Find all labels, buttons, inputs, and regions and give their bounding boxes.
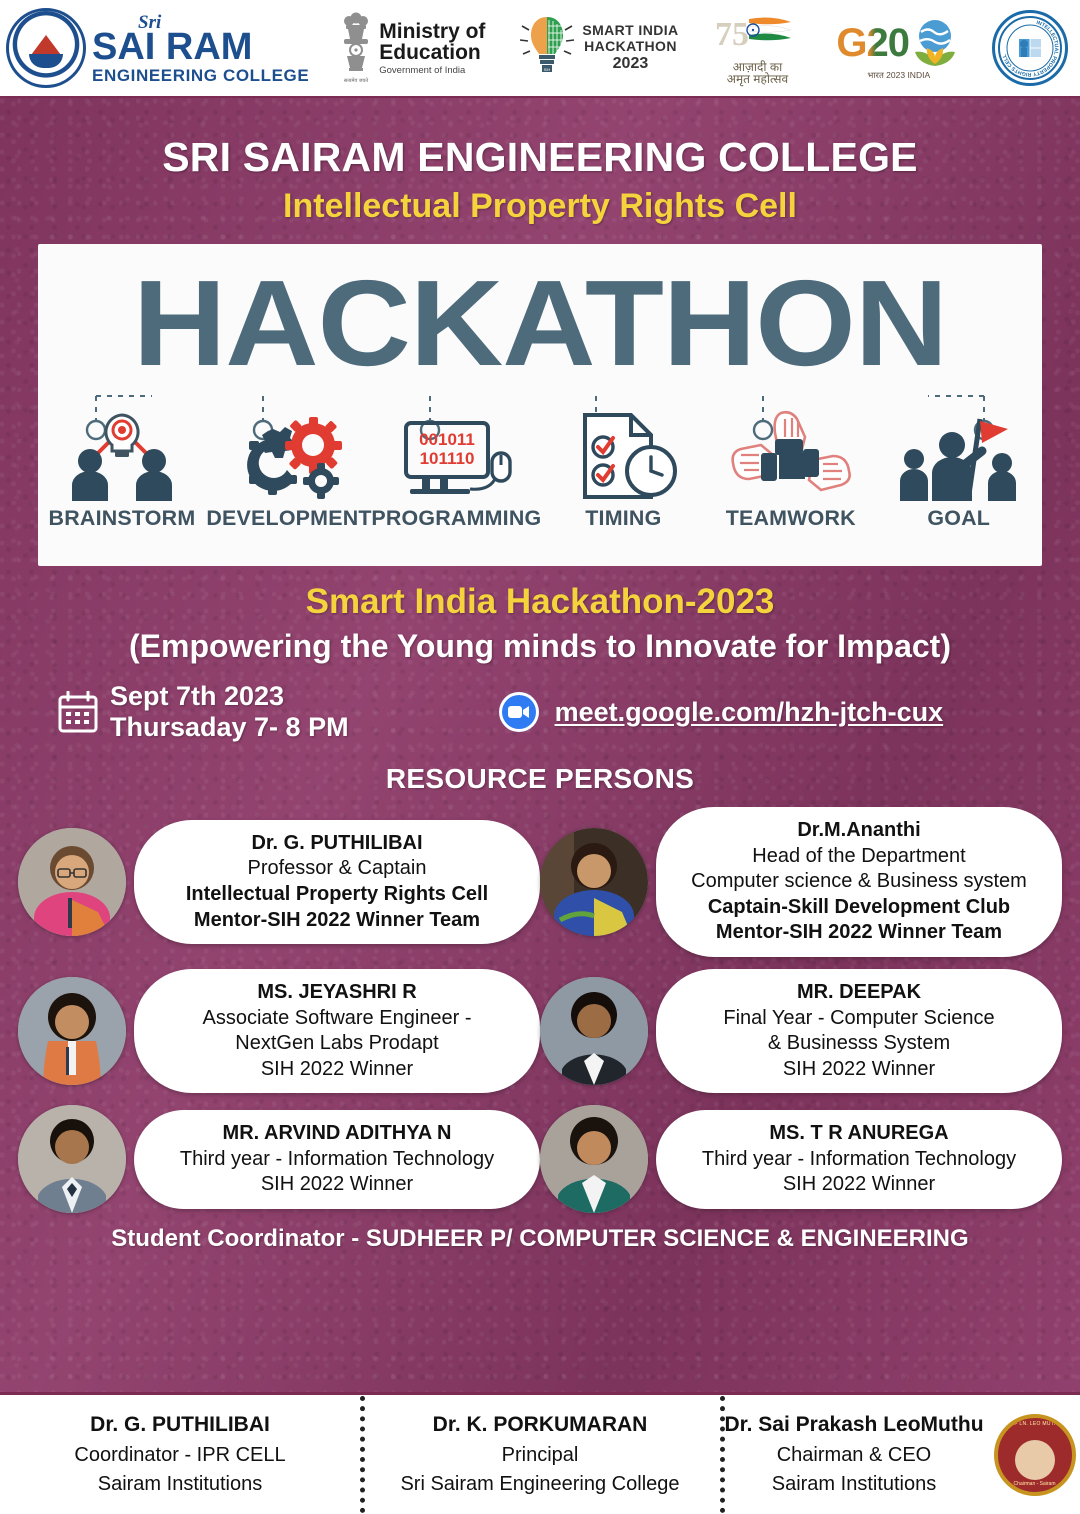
- footer-org: Sairam Institutions: [0, 1470, 360, 1499]
- resource-row-2: MS. JEYASHRI R Associate Software Engine…: [18, 969, 1062, 1093]
- resource-persons-grid: Dr. G. PUTHILIBAI Professor & Captain In…: [0, 807, 1080, 1213]
- footer-role: Coordinator - IPR CELL: [0, 1441, 360, 1470]
- event-date-group: Sept 7th 2023 Thursaday 7- 8 PM: [58, 681, 349, 743]
- svg-text:75: 75: [715, 16, 749, 53]
- person-detail: NextGen Labs Prodapt: [148, 1031, 526, 1057]
- footer-name: Dr. G. PUTHILIBAI: [0, 1410, 360, 1440]
- event-date: Sept 7th 2023: [110, 681, 349, 712]
- person-name: Dr.M.Ananthi: [670, 818, 1048, 844]
- resource-row-1: Dr. G. PUTHILIBAI Professor & Captain In…: [18, 807, 1062, 957]
- google-meet-link[interactable]: meet.google.com/hzh-jtch-cux: [555, 697, 944, 728]
- chairman-seal-icon: MJF LN. LEO MUTHU Chairman - Sairam: [994, 1414, 1076, 1496]
- footer-signatories: Dr. G. PUTHILIBAI Coordinator - IPR CELL…: [0, 1392, 1080, 1514]
- stage-label-goal: GOAL: [927, 507, 990, 531]
- resource-card-text: MR. ARVIND ADITHYA N Third year - Inform…: [134, 1110, 540, 1209]
- person-detail: Professor & Captain: [148, 856, 526, 882]
- brain-bulb-icon: SIH: [516, 8, 578, 88]
- azadi-hindi-line2: अमृत महोत्सव: [709, 73, 805, 85]
- event-meta-row: Sept 7th 2023 Thursaday 7- 8 PM meet.goo…: [0, 681, 1080, 743]
- resource-card-text: MS. JEYASHRI R Associate Software Engine…: [134, 969, 540, 1093]
- stage-timing: TIMING: [540, 409, 707, 531]
- g20-lotus-globe-icon: [909, 16, 961, 72]
- resource-person-card: Dr.M.Ananthi Head of the Department Comp…: [540, 807, 1062, 957]
- calendar-icon: [58, 691, 98, 733]
- sairam-main-text: SAI RAM: [92, 28, 309, 66]
- person-detail: SIH 2022 Winner: [148, 1057, 526, 1083]
- stage-label-programming: PROGRAMMING: [371, 507, 541, 531]
- moe-line3: Government of India: [379, 66, 485, 76]
- person-detail: Third year - Information Technology: [148, 1147, 526, 1173]
- footer-org: Sri Sairam Engineering College: [360, 1470, 720, 1499]
- stage-development: DEVELOPMENT: [205, 409, 372, 531]
- footer-name: Dr. K. PORKUMARAN: [360, 1410, 720, 1440]
- footer-name: Dr. Sai Prakash LeoMuthu: [724, 1410, 983, 1440]
- seal-bottom-text: Chairman - Sairam: [998, 1481, 1072, 1488]
- page-title: SRI SAIRAM ENGINEERING COLLEGE: [0, 98, 1080, 181]
- goal-flag-icon: [894, 409, 1022, 501]
- hackathon-wordmark: HACKATHON: [38, 244, 1042, 384]
- sih-line2: HACKATHON: [582, 39, 678, 55]
- person-detail: & Businesss System: [670, 1031, 1048, 1057]
- moe-line1: Ministry of: [379, 21, 485, 42]
- stage-label-development: DEVELOPMENT: [206, 507, 371, 531]
- programming-monitor-icon: 001011 101110: [392, 409, 520, 501]
- g20-sub-text: भारत 2023 INDIA: [867, 70, 930, 81]
- resource-card-text: Dr. G. PUTHILIBAI Professor & Captain In…: [134, 820, 540, 944]
- stage-label-teamwork: TEAMWORK: [726, 507, 856, 531]
- ipr-seal-icon: INTELLECTUAL PROPERTY RIGHTS CELL: [997, 15, 1063, 81]
- ministry-of-education-logo: सत्यमेव जयते Ministry of Education Gover…: [340, 10, 485, 86]
- hackathon-stage-icons: BRAINSTORM: [38, 409, 1042, 531]
- stage-programming: 001011 101110 PROGRAMMING: [373, 409, 540, 531]
- photo-ananthi: [540, 828, 648, 936]
- photo-deepak: [540, 977, 648, 1085]
- sairam-emblem-icon: [6, 8, 86, 88]
- resource-card-text: MR. DEEPAK Final Year - Computer Science…: [656, 969, 1062, 1093]
- monitor-code-line1: 001011: [419, 430, 475, 449]
- person-detail: Third year - Information Technology: [670, 1147, 1048, 1173]
- video-camera-icon: [499, 692, 539, 732]
- photo-jeyashri: [18, 977, 126, 1085]
- stage-brainstorm: BRAINSTORM: [38, 409, 205, 531]
- footer-column-chairman: Dr. Sai Prakash LeoMuthu Chairman & CEO …: [720, 1410, 1080, 1498]
- person-detail: SIH 2022 Winner: [148, 1172, 526, 1198]
- resource-persons-heading: RESOURCE PERSONS: [0, 763, 1080, 795]
- hackathon-banner: HACKATHON: [38, 244, 1042, 566]
- azadi-ka-amrit-mahotsav-logo: 75 आज़ादी का अमृत महोत्सव: [709, 11, 805, 85]
- resource-card-text: MS. T R ANUREGA Third year - Information…: [656, 1110, 1062, 1209]
- event-time: Thursaday 7- 8 PM: [110, 712, 349, 743]
- seal-top-text: MJF LN. LEO MUTHU: [998, 1421, 1072, 1428]
- stage-teamwork: TEAMWORK: [707, 409, 874, 531]
- stage-goal: GOAL: [875, 409, 1042, 531]
- event-title: Smart India Hackathon-2023: [0, 582, 1080, 622]
- svg-text:SIH: SIH: [544, 67, 551, 72]
- chairman-portrait: [1015, 1440, 1055, 1480]
- person-detail: SIH 2022 Winner: [670, 1172, 1048, 1198]
- footer-org: Sairam Institutions: [724, 1470, 983, 1499]
- resource-person-card: Dr. G. PUTHILIBAI Professor & Captain In…: [18, 807, 540, 957]
- footer-column-coordinator: Dr. G. PUTHILIBAI Coordinator - IPR CELL…: [0, 1410, 360, 1498]
- resource-person-card: MS. JEYASHRI R Associate Software Engine…: [18, 969, 540, 1093]
- google-meet-group[interactable]: meet.google.com/hzh-jtch-cux: [499, 692, 944, 732]
- person-detail: Associate Software Engineer -: [148, 1006, 526, 1032]
- resource-person-card: MR. DEEPAK Final Year - Computer Science…: [540, 969, 1062, 1093]
- resource-person-card: MS. T R ANUREGA Third year - Information…: [540, 1105, 1062, 1213]
- person-detail: Computer science & Business system: [670, 869, 1048, 895]
- photo-anurega: [540, 1105, 648, 1213]
- footer-role: Chairman & CEO: [724, 1441, 983, 1470]
- ipr-cell-seal-logo: INTELLECTUAL PROPERTY RIGHTS CELL: [992, 10, 1068, 86]
- person-name: Dr. G. PUTHILIBAI: [148, 831, 526, 857]
- person-detail: Mentor-SIH 2022 Winner Team: [670, 920, 1048, 946]
- sih-year: 2023: [582, 55, 678, 73]
- g20-india-logo: G20 भारत 2023 INDIA: [836, 16, 961, 81]
- moe-line2: Education: [379, 42, 485, 63]
- person-name: MR. ARVIND ADITHYA N: [148, 1121, 526, 1147]
- sri-sairam-engineering-college-logo: Sri SAI RAM ENGINEERING COLLEGE: [6, 8, 309, 88]
- sih-line1: SMART INDIA: [582, 23, 678, 39]
- smart-india-hackathon-2023-logo: SIH SMART INDIA HACKATHON 2023: [516, 8, 678, 88]
- brainstorm-icon: [58, 409, 186, 501]
- person-name: MR. DEEPAK: [670, 980, 1048, 1006]
- stage-label-timing: TIMING: [586, 507, 662, 531]
- page-subtitle: Intellectual Property Rights Cell: [0, 187, 1080, 226]
- person-detail: Mentor-SIH 2022 Winner Team: [148, 908, 526, 934]
- resource-row-3: MR. ARVIND ADITHYA N Third year - Inform…: [18, 1105, 1062, 1213]
- person-detail: Final Year - Computer Science: [670, 1006, 1048, 1032]
- resource-person-card: MR. ARVIND ADITHYA N Third year - Inform…: [18, 1105, 540, 1213]
- svg-text:सत्यमेव जयते: सत्यमेव जयते: [344, 77, 368, 84]
- resource-card-text: Dr.M.Ananthi Head of the Department Comp…: [656, 807, 1062, 957]
- student-coordinator-line: Student Coordinator - SUDHEER P/ COMPUTE…: [0, 1225, 1080, 1253]
- person-detail: Head of the Department: [670, 844, 1048, 870]
- development-gears-icon: [229, 409, 349, 501]
- timing-checklist-clock-icon: [565, 409, 683, 501]
- sairam-sub-text: ENGINEERING COLLEGE: [92, 67, 309, 84]
- poster-body: SRI SAIRAM ENGINEERING COLLEGE Intellect…: [0, 98, 1080, 1395]
- g20-text: G20: [836, 21, 909, 66]
- teamwork-hands-icon: [727, 409, 855, 501]
- person-detail: Captain-Skill Development Club: [670, 895, 1048, 921]
- partner-logo-strip: Sri SAI RAM ENGINEERING COLLEGE सत्यमेव …: [0, 0, 1080, 98]
- event-tagline: (Empowering the Young minds to Innovate …: [0, 628, 1080, 665]
- person-name: MS. JEYASHRI R: [148, 980, 526, 1006]
- person-name: MS. T R ANUREGA: [670, 1121, 1048, 1147]
- photo-puthilibai: [18, 828, 126, 936]
- footer-role: Principal: [360, 1441, 720, 1470]
- person-detail: SIH 2022 Winner: [670, 1057, 1048, 1083]
- azadi-75-flag-icon: 75: [709, 11, 805, 57]
- monitor-code-line2: 101110: [420, 449, 475, 468]
- person-detail: Intellectual Property Rights Cell: [148, 882, 526, 908]
- ashoka-pillar-icon: सत्यमेव जयते: [340, 10, 372, 86]
- footer-column-principal: Dr. K. PORKUMARAN Principal Sri Sairam E…: [360, 1410, 720, 1498]
- stage-label-brainstorm: BRAINSTORM: [48, 507, 195, 531]
- photo-arvind-adithya: [18, 1105, 126, 1213]
